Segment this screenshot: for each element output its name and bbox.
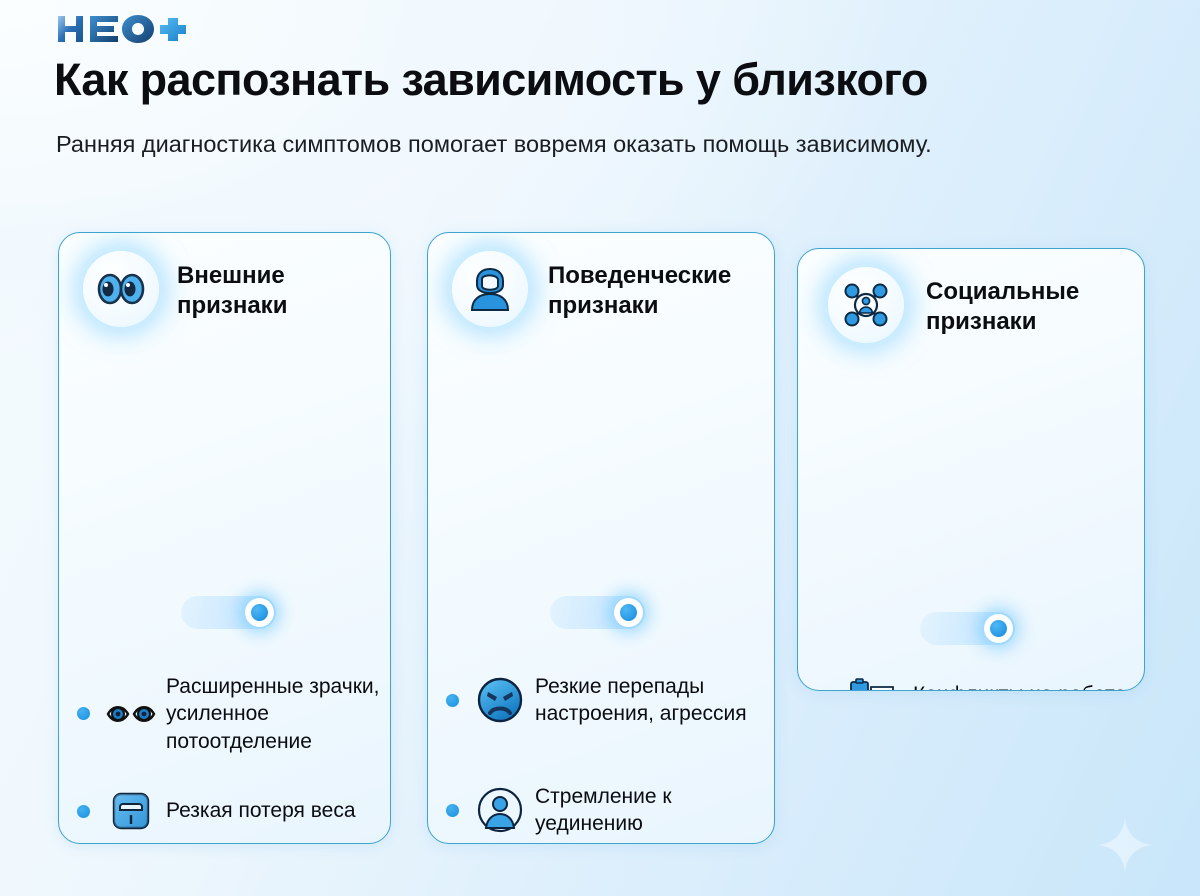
list-item-text: Расширенные зрачки, усиленное потоотделе… [166,673,391,755]
card-title: Внешние признаки [177,261,387,321]
card-header: Социальные признаки [798,249,1144,365]
card-title: Социальные признаки [926,277,1145,337]
weight-scale-icon [104,784,158,838]
person-avatar-icon [452,251,528,327]
card-behavioral-signs: Поведенческие признаки Резкие перепады н… [427,232,775,844]
list-item-text: Конфликты на работе, учёбе, в семье [913,681,1145,691]
bullet-dot [77,707,90,720]
list-item: Расширенные зрачки, усиленное потоотделе… [77,673,391,755]
bullet-dot [77,805,90,818]
list-item-text: Резкая потеря веса [166,797,356,824]
angry-face-icon [473,673,527,727]
toggle-knob[interactable] [984,614,1013,643]
list-item: Стремление к уединению [446,783,775,838]
toggle-social[interactable] [920,612,1015,645]
list-item: Резкие перепады настроения, агрессия [446,673,775,728]
dilated-eyes-icon [104,687,158,741]
bullet-dot [446,694,459,707]
toggle-knob[interactable] [245,598,274,627]
toggle-behavioral[interactable] [550,596,645,629]
list-item-text: Резкие перепады настроения, агрессия [535,673,775,728]
card-social-signs: Социальные признаки [797,248,1145,691]
list-item: Резкая потеря веса [77,784,391,838]
card-header: Внешние признаки [59,233,390,349]
card-external-signs: Внешние признаки Расширенные зрачки, уси… [58,232,391,844]
toggle-external[interactable] [181,596,276,629]
eyes-icon [83,251,159,327]
toggle-knob[interactable] [614,598,643,627]
conflict-people-icon [845,681,905,691]
sparkle-star-icon [1096,816,1154,874]
cards-container: Внешние признаки Расширенные зрачки, уси… [0,0,1200,896]
user-circle-icon [473,783,527,837]
bullet-dot [446,804,459,817]
list-item: Конфликты на работе, учёбе, в семье [818,681,1145,691]
network-people-icon [828,267,904,343]
list-item-text: Стремление к уединению [535,783,775,838]
card-header: Поведенческие признаки [428,233,774,349]
card-title: Поведенческие признаки [548,261,775,321]
